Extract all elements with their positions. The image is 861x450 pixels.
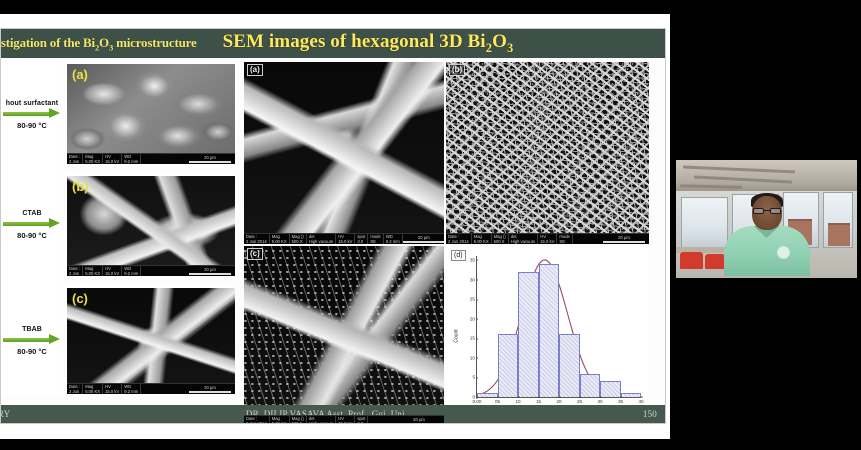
sem-info-cell: HV15.0 kV	[103, 266, 122, 276]
sem-info-cell: detHigh vacuum	[509, 234, 538, 244]
sem-info-cell: detHigh vacuum	[307, 416, 336, 424]
slide-title: SEM images of hexagonal 3D Bi2O3	[223, 31, 514, 56]
sem-info-cell: Mag5.00 KX	[270, 234, 290, 244]
histogram-x-tick: 05	[495, 399, 500, 404]
flow-step-2-label: CTAB	[1, 210, 63, 217]
histogram-x-tick: 20	[556, 399, 561, 404]
sem-scale-bar: 20 µm	[603, 235, 649, 243]
sem-info-cell: HV15.0 kV	[103, 384, 122, 394]
sem-info-cell: Mag5.00 KX	[270, 416, 290, 424]
flow-step-3: TBAB 80-90 °C	[1, 326, 63, 356]
video-tile-bottom-bar	[672, 278, 861, 304]
sem-scale-bar: 20 µm	[189, 155, 235, 163]
flow-step-3-label: TBAB	[1, 326, 63, 333]
panel-label-b: (b)	[72, 179, 89, 194]
histogram-y-tick: 30	[470, 277, 475, 282]
slide-header-left-title: vestigation of the Bi2O3 microstructure	[0, 35, 197, 53]
video-bg-chair	[705, 254, 725, 268]
sem-info-cell: Date :2 Jun	[67, 266, 83, 276]
histogram-plot-area: 051015202530350.000510152025303540	[476, 256, 641, 398]
panel-label-main-d: (d)	[451, 250, 466, 261]
sem-info-cell: WD9.2 mm	[122, 266, 141, 276]
sem-info-cell: spot3.0	[355, 234, 368, 244]
sem-info-cell: Date :2 Jun	[67, 384, 83, 394]
slide-title-sub-3: 3	[507, 41, 513, 55]
histogram-x-tick: 25	[577, 399, 582, 404]
histogram-y-tick: 35	[470, 257, 475, 262]
presenter-video-tile[interactable]	[672, 150, 861, 304]
sem-micrograph-main-c: (c) Date :2 Jun 2014 Mag5.00 KX Mag ()50…	[244, 246, 444, 424]
sem-micrograph-main-b: (b) Date :2 Jun 2014 Mag5.00 KX Mag ()50…	[446, 62, 649, 244]
sem-info-cell: WD9.2 mm	[122, 154, 141, 164]
sem-info-cell: HV15.0 kV	[336, 234, 355, 244]
sem-info-cell: Mag ()500 X	[492, 234, 509, 244]
glasses-icon	[770, 208, 781, 214]
flow-step-2: CTAB 80-90 °C	[1, 210, 63, 240]
sem-micrograph-left-a: (a) Date :2 Jun Mag5.00 KX HV15.0 kV WD9…	[65, 62, 237, 166]
sem-texture	[67, 64, 235, 164]
presentation-slide: vestigation of the Bi2O3 microstructure …	[0, 28, 666, 424]
panel-label-a: (a)	[72, 67, 88, 82]
sem-info-bar: Date :2 Jun 2014 Mag5.00 KX Mag ()500 X …	[244, 233, 444, 244]
sem-info-cell: Mag5.00 KX	[83, 154, 103, 164]
histogram-bar	[539, 264, 560, 397]
flow-step-1: hout surfactant 80-90 °C	[1, 100, 63, 130]
sem-info-cell: Mag ()500 X	[290, 234, 307, 244]
sem-info-cell: modeSE	[557, 234, 572, 244]
video-bg-chair	[680, 252, 704, 269]
panel-label-main-a: (a)	[247, 64, 263, 76]
histogram-canvas: (d) Count Length [µm] 051015202530350.00…	[448, 248, 647, 424]
sem-info-cell: Mag ()500 X	[290, 416, 307, 424]
sem-info-bar: Date :2 Jun Mag5.00 KX HV15.0 kV WD9.2 m…	[67, 153, 235, 164]
sem-info-cell: Date :2 Jun 2014	[446, 234, 472, 244]
sem-scale-bar: 20 µm	[398, 417, 444, 424]
histogram-bar	[559, 334, 580, 397]
sem-info-cell: Mag5.00 KX	[83, 384, 103, 394]
sem-info-cell: Mag5.00 KX	[472, 234, 492, 244]
sem-info-cell: Date :2 Jun	[67, 154, 83, 164]
sem-info-cell: Date :2 Jun 2014	[244, 234, 270, 244]
histogram-bar	[498, 334, 519, 397]
flow-arrow-icon	[3, 220, 61, 227]
glasses-bridge	[764, 210, 770, 211]
sem-info-cell: HV15.0 kV	[538, 234, 557, 244]
synthesis-flow-column: hout surfactant 80-90 °C CTAB 80-90 °C T…	[1, 58, 63, 396]
histogram-x-tick: 40	[638, 399, 643, 404]
screen: vestigation of the Bi2O3 microstructure …	[0, 0, 861, 450]
slide-title-mid: O	[492, 31, 507, 52]
histogram-y-tick: 5	[472, 375, 475, 380]
histogram-bar	[518, 272, 539, 397]
sem-texture	[446, 62, 649, 244]
presenter-video-frame	[676, 160, 857, 278]
sem-info-cell: Mag5.00 KX	[83, 266, 103, 276]
histogram-x-tick: 0.00	[473, 399, 482, 404]
presenter-shirt-logo	[777, 246, 790, 259]
slide-header: vestigation of the Bi2O3 microstructure …	[1, 29, 666, 58]
histogram-y-tick: 20	[470, 316, 475, 321]
histogram-bar	[580, 374, 601, 398]
sem-texture	[244, 246, 444, 424]
flow-step-1-label: hout surfactant	[1, 100, 63, 107]
shared-screen-region: vestigation of the Bi2O3 microstructure …	[0, 14, 672, 439]
sem-texture	[67, 288, 235, 394]
sem-texture	[67, 176, 235, 276]
sem-micrograph-left-b: (b) Date :2 Jun Mag5.00 KX HV15.0 kV WD9…	[65, 174, 237, 278]
flow-arrow-icon	[3, 336, 61, 343]
histogram-x-tick: 30	[597, 399, 602, 404]
histogram-y-tick: 10	[470, 355, 475, 360]
video-bg-window	[681, 197, 728, 249]
sem-info-bar: Date :2 Jun 2014 Mag5.00 KX Mag ()500 X …	[446, 233, 649, 244]
sem-info-cell: HV15.0 kV	[103, 154, 122, 164]
sem-info-cell: modeSE	[368, 234, 383, 244]
histogram-bar	[477, 393, 498, 397]
panel-label-c: (c)	[72, 291, 88, 306]
glasses-icon	[753, 208, 764, 214]
slide-title-pre: SEM images of hexagonal 3D Bi	[223, 31, 486, 52]
sem-micrograph-main-a: (a) Date :2 Jun 2014 Mag5.00 KX Mag ()50…	[244, 62, 444, 244]
sem-scale-bar: 20 µm	[403, 235, 444, 243]
histogram-y-axis-label: Count	[454, 329, 460, 342]
flow-step-3-temperature: 80-90 °C	[1, 347, 63, 356]
sem-info-bar: Date :2 Jun Mag5.00 KX HV15.0 kV WD9.2 m…	[67, 383, 235, 394]
histogram-panel-d: (d) Count Length [µm] 051015202530350.00…	[446, 246, 649, 424]
sem-scale-bar: 20 µm	[189, 385, 235, 393]
sem-info-cell: HV15.0 kV	[336, 416, 355, 424]
sem-info-cell: Date :2 Jun 2014	[244, 416, 270, 424]
sem-info-bar: Date :2 Jun Mag5.00 KX HV15.0 kV WD9.2 m…	[67, 265, 235, 276]
flow-step-1-temperature: 80-90 °C	[1, 121, 63, 130]
sem-info-cell: spot3.0	[355, 416, 368, 424]
histogram-x-tick: 10	[515, 399, 520, 404]
flow-arrow-icon	[3, 110, 61, 117]
footer-page-number: 150	[643, 409, 657, 419]
histogram-bar	[600, 381, 621, 397]
histogram-y-tick: 15	[470, 336, 475, 341]
sem-micrograph-left-c: (c) Date :2 Jun Mag5.00 KX HV15.0 kV WD9…	[65, 286, 237, 396]
sem-texture	[244, 62, 444, 244]
video-bg-building	[828, 223, 850, 247]
histogram-bar	[621, 393, 642, 397]
flow-step-2-temperature: 80-90 °C	[1, 231, 63, 240]
histogram-y-tick: 25	[470, 297, 475, 302]
panel-label-main-b: (b)	[449, 64, 465, 76]
sem-info-bar: Date :2 Jun 2014 Mag5.00 KX Mag ()500 X …	[244, 415, 444, 424]
histogram-x-tick: 35	[618, 399, 623, 404]
sem-scale-bar: 20 µm	[189, 267, 235, 275]
footer-left-text: STRY	[0, 409, 10, 419]
sem-info-cell: WD9.2 mm	[122, 384, 141, 394]
histogram-x-tick: 15	[536, 399, 541, 404]
sem-info-cell: detHigh vacuum	[307, 234, 336, 244]
sem-info-cell: WD9.2 mm	[384, 234, 403, 244]
panel-label-main-c: (c)	[247, 248, 263, 260]
